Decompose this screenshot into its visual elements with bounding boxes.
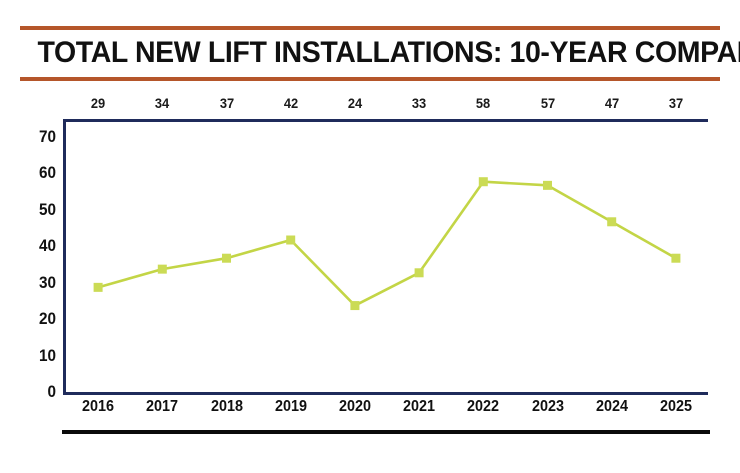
- x-axis-tick-label: 2022: [456, 398, 510, 416]
- x-axis-tick-label: 2024: [585, 398, 639, 416]
- data-point-label: 34: [144, 95, 181, 111]
- x-axis-tick-label: 2018: [200, 398, 254, 416]
- plot-area: [63, 119, 708, 395]
- y-axis-tick-label: 60: [25, 163, 56, 183]
- x-axis-tick-label: 2021: [392, 398, 446, 416]
- y-axis-tick-label: 20: [25, 309, 56, 329]
- x-axis-tick-label: 2019: [264, 398, 318, 416]
- x-axis-tick-label: 2016: [71, 398, 125, 416]
- data-point-label: 24: [336, 95, 373, 111]
- x-axis-tick-label: 2017: [135, 398, 189, 416]
- data-point-label: 29: [80, 95, 117, 111]
- baseline-rule: [62, 430, 710, 434]
- data-point-label: 33: [401, 95, 438, 111]
- line-chart: 29343742243358574737 706050403020100 201…: [0, 0, 740, 473]
- x-axis-tick-label: 2020: [328, 398, 382, 416]
- x-axis-tick-label: 2023: [521, 398, 575, 416]
- data-point-label: 42: [272, 95, 309, 111]
- y-axis-tick-label: 70: [25, 127, 56, 147]
- data-point-label: 57: [529, 95, 566, 111]
- y-axis-tick-label: 50: [25, 200, 56, 220]
- data-point-label: 37: [657, 95, 694, 111]
- y-axis-ticks: 706050403020100: [20, 0, 56, 473]
- chart-page: TOTAL NEW LIFT INSTALLATIONS: 10-YEAR CO…: [0, 0, 740, 473]
- y-axis-tick-label: 0: [25, 382, 56, 402]
- y-axis-tick-label: 30: [25, 273, 56, 293]
- data-point-label: 37: [208, 95, 245, 111]
- y-axis-tick-label: 40: [25, 236, 56, 256]
- x-axis-tick-label: 2025: [649, 398, 703, 416]
- data-point-label: 47: [593, 95, 630, 111]
- y-axis-tick-label: 10: [25, 346, 56, 366]
- data-point-label: 58: [465, 95, 502, 111]
